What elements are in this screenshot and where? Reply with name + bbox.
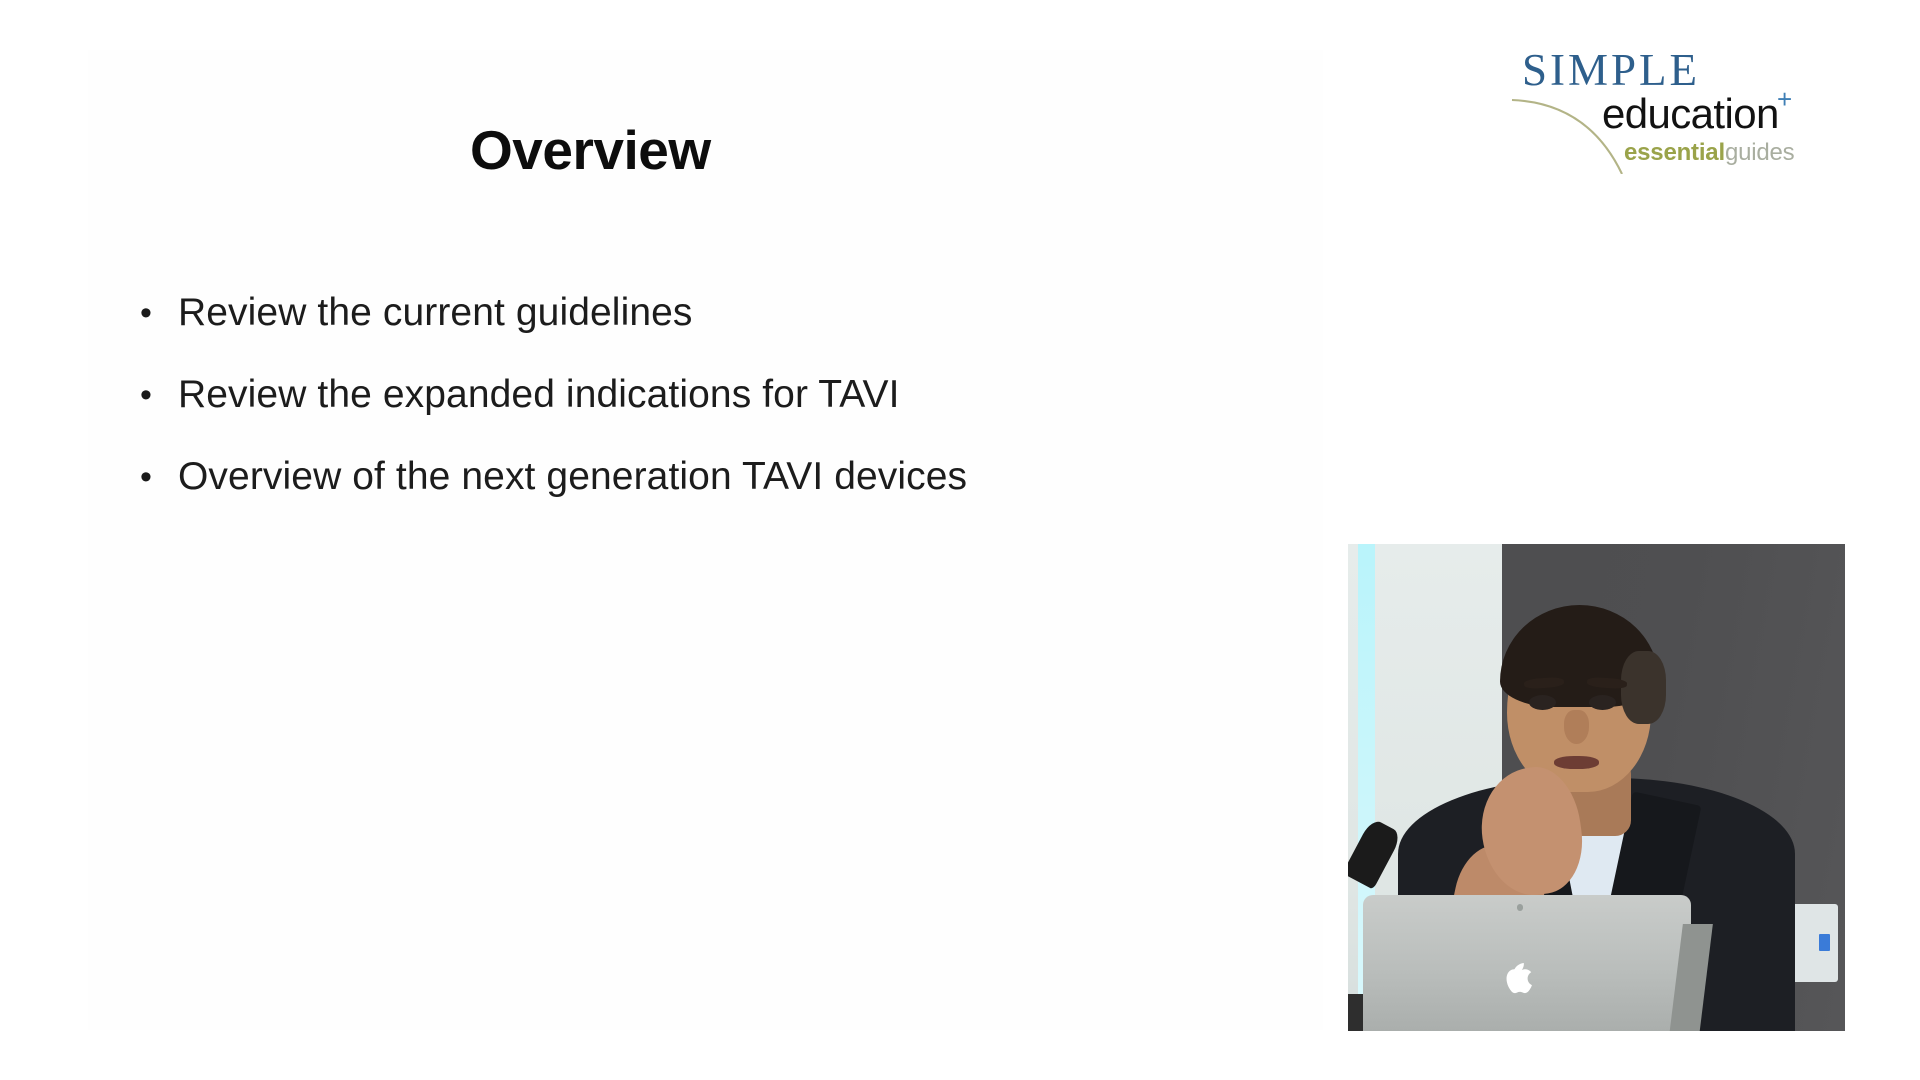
speaker-hair-side — [1621, 651, 1666, 724]
bullet-item-text: Review the current guidelines — [178, 285, 693, 341]
logo-tagline-guides: guides — [1725, 139, 1795, 166]
brand-logo: SIMPLE education + essentialguides — [1504, 44, 1824, 174]
slide-canvas — [88, 50, 1323, 1030]
list-item: • Overview of the next generation TAVI d… — [136, 449, 1236, 531]
list-item: • Review the expanded indications for TA… — [136, 367, 1236, 449]
bullet-point-icon: • — [136, 449, 178, 505]
speaker-video-overlay[interactable] — [1348, 544, 1845, 1031]
bullet-point-icon: • — [136, 285, 178, 341]
speaker-nose — [1564, 710, 1589, 744]
logo-tagline: essentialguides — [1624, 141, 1794, 165]
bullet-point-icon: • — [136, 367, 178, 423]
page-title: Overview — [470, 118, 711, 182]
bullet-item-text: Review the expanded indications for TAVI — [178, 367, 900, 423]
wall-panel-led-icon — [1819, 934, 1830, 952]
slide-bullet-list: • Review the current guidelines • Review… — [136, 285, 1236, 531]
logo-word-education: education — [1602, 93, 1779, 135]
logo-tagline-essential: essential — [1624, 139, 1725, 166]
speaker-mouth — [1554, 756, 1599, 769]
speaker-eye-right — [1589, 695, 1616, 710]
bullet-item-text: Overview of the next generation TAVI dev… — [178, 449, 967, 505]
apple-logo-icon — [1502, 963, 1537, 1017]
logo-plus-icon: + — [1777, 86, 1792, 112]
logo-word-simple: SIMPLE — [1522, 48, 1700, 93]
laptop-camera-icon — [1517, 904, 1523, 910]
list-item: • Review the current guidelines — [136, 285, 1236, 367]
presentation-viewer: Overview • Review the current guidelines… — [0, 0, 1920, 1080]
